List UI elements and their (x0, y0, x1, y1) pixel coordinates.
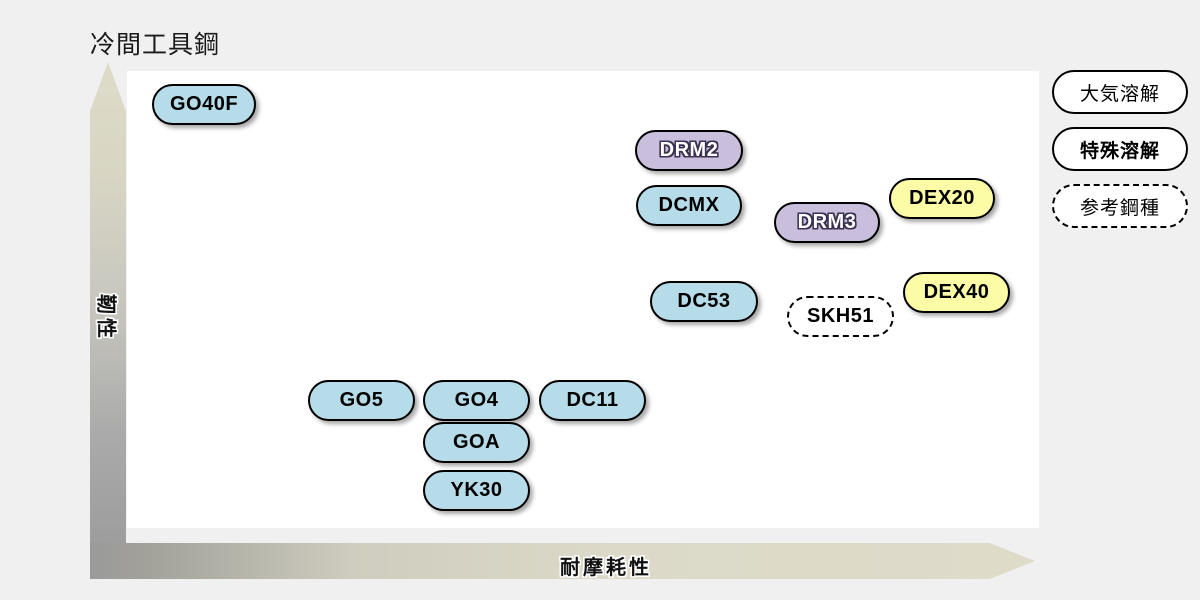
steel-grade-pill[interactable]: DRM2 (635, 130, 743, 171)
steel-grade-pill[interactable]: YK30 (423, 470, 530, 511)
legend-item[interactable]: 特殊溶解 (1052, 127, 1188, 171)
steel-grade-pill[interactable]: DC53 (650, 281, 758, 322)
steel-grade-pill[interactable]: DC11 (539, 380, 646, 421)
steel-grade-pill[interactable]: SKH51 (787, 296, 894, 337)
legend-item[interactable]: 大気溶解 (1052, 70, 1188, 114)
plot-area (127, 71, 1039, 528)
steel-grade-pill[interactable]: GOA (423, 422, 530, 463)
chart-canvas: 冷間工具鋼 靭性 耐摩耗性 GO40FDRM2DCMXDRM3DEX20DC53… (0, 0, 1200, 600)
steel-grade-pill[interactable]: DEX40 (903, 272, 1010, 313)
y-axis-label: 靭性 (94, 294, 123, 342)
steel-grade-pill[interactable]: DEX20 (889, 178, 995, 219)
steel-grade-pill[interactable]: GO5 (308, 380, 415, 421)
steel-grade-pill[interactable]: GO4 (423, 380, 530, 421)
steel-grade-pill[interactable]: GO40F (152, 84, 256, 125)
page-title: 冷間工具鋼 (90, 25, 220, 61)
legend-item[interactable]: 参考鋼種 (1052, 184, 1188, 228)
steel-grade-pill[interactable]: DCMX (636, 185, 742, 226)
legend: 大気溶解特殊溶解参考鋼種 (1052, 70, 1188, 241)
x-axis-label: 耐摩耗性 (560, 551, 652, 580)
steel-grade-pill[interactable]: DRM3 (774, 202, 880, 243)
